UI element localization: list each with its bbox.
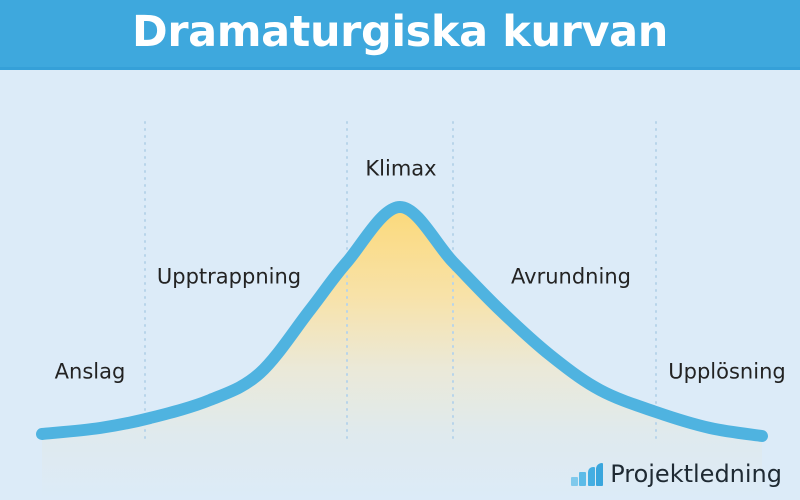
stage-label-anslag: Anslag (55, 362, 126, 383)
logo-text: Projektledning (610, 462, 782, 486)
stage-label-klimax: Klimax (365, 159, 436, 180)
stage-label-upplosning: Upplösning (668, 362, 785, 383)
logo-bar-1 (571, 477, 578, 486)
curve-area-fill (42, 207, 762, 500)
logo-bar-2 (579, 472, 586, 486)
page-title: Dramaturgiska kurvan (132, 11, 668, 54)
dramatic-arc-chart: Anslag Upptrappning Klimax Avrundning Up… (0, 70, 800, 500)
header-band: Dramaturgiska kurvan (0, 0, 800, 70)
bar-chart-logo-icon (571, 464, 604, 486)
brand-logo: Projektledning (571, 462, 782, 486)
infographic-canvas: Dramaturgiska kurvan Anslag Upptra (0, 0, 800, 500)
logo-bar-4 (596, 463, 603, 486)
logo-bar-3 (588, 467, 595, 486)
stage-label-avrundning: Avrundning (511, 267, 631, 288)
dramatic-arc-svg (0, 70, 800, 500)
stage-label-upptrappning: Upptrappning (157, 267, 301, 288)
